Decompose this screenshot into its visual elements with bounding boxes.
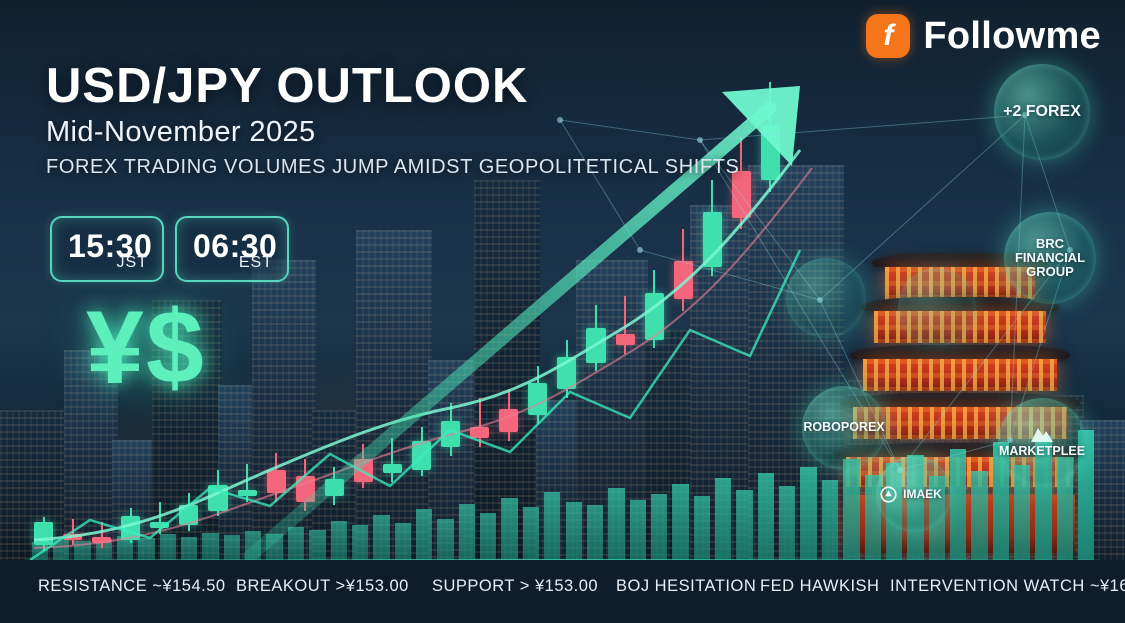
currency-symbols: ¥$	[86, 296, 206, 400]
candlestick	[674, 229, 693, 310]
candlestick	[354, 444, 373, 488]
candle-wick	[479, 398, 481, 447]
volume-bar	[331, 521, 347, 560]
candlestick	[557, 340, 576, 398]
candle-body	[325, 479, 344, 496]
candle-body	[63, 534, 82, 540]
page-subtitle: Mid-November 2025	[46, 116, 316, 149]
clock-badge-jst: 15:30 JST	[50, 216, 164, 282]
bubble-label-marketplee: MARKETPLEE	[993, 445, 1091, 459]
candlestick	[499, 389, 518, 441]
candle-body	[150, 522, 169, 528]
bubble-unlabeled-left[interactable]	[786, 258, 866, 338]
bubble-imaek[interactable]: IMAEK	[876, 456, 952, 532]
candle-body	[238, 490, 257, 496]
candlestick	[732, 137, 751, 230]
candlestick	[528, 366, 547, 424]
volume-bar	[523, 507, 539, 560]
followme-wordmark: Followme	[923, 15, 1101, 58]
tag-strip: RESISTANCE ~¥154.50BREAKOUT >¥153.00SUPP…	[0, 560, 1125, 623]
volume-bar	[715, 478, 731, 560]
volume-bar	[309, 530, 325, 560]
candlestick	[470, 398, 489, 447]
volume-bar	[630, 500, 646, 560]
candlestick	[267, 453, 286, 502]
candlestick	[703, 180, 722, 276]
candle-body	[586, 328, 605, 363]
volume-bar	[758, 473, 774, 560]
infographic-canvas: ¥$ USD/JPY OUTLOOK Mid-November 2025 FOR…	[0, 0, 1125, 623]
candle-body	[267, 470, 286, 493]
candle-body	[383, 464, 402, 473]
volume-bar	[416, 509, 432, 560]
volume-bar	[800, 467, 816, 560]
candlestick	[325, 467, 344, 505]
volume-bar	[608, 488, 624, 560]
candle-wick	[101, 522, 103, 548]
candlestick	[441, 403, 460, 455]
bubble-label-roboporex: ROBOPOREX	[797, 421, 890, 435]
volume-bar	[437, 519, 453, 560]
candlestick	[208, 470, 227, 516]
candle-body	[674, 261, 693, 299]
clock-zone-jst: JST	[117, 254, 148, 272]
followme-mark-icon: f	[866, 14, 910, 58]
candlestick	[383, 438, 402, 482]
candle-body	[34, 522, 53, 545]
candle-body	[645, 293, 664, 339]
volume-bar	[651, 494, 667, 560]
page-title: USD/JPY OUTLOOK	[46, 62, 528, 111]
volume-bar	[694, 496, 710, 560]
candle-wick	[159, 502, 161, 534]
volume-bar	[373, 515, 389, 560]
volume-bar	[779, 486, 795, 560]
candle-body	[354, 459, 373, 482]
page-kicker: FOREX TRADING VOLUMES JUMP AMIDST GEOPOL…	[46, 156, 740, 179]
clock-badge-est: 06:30 EST	[175, 216, 289, 282]
candle-body	[499, 409, 518, 432]
candle-body	[296, 476, 315, 502]
tag-item: BREAKOUT >¥153.00	[236, 577, 409, 596]
candle-wick	[72, 519, 74, 545]
candlestick	[761, 82, 780, 192]
tag-item: RESISTANCE ~¥154.50	[38, 577, 226, 596]
volume-bar	[245, 531, 261, 560]
candle-body	[761, 125, 780, 180]
tag-item: INTERVENTION WATCH ~¥160	[890, 577, 1125, 596]
volume-bar	[587, 505, 603, 560]
candle-body	[703, 212, 722, 267]
candlestick	[121, 508, 140, 543]
candlestick	[34, 517, 53, 552]
candlestick	[92, 522, 111, 548]
candlestick	[586, 305, 605, 372]
candle-body	[470, 427, 489, 439]
bubble-unlabeled-center[interactable]	[898, 268, 976, 346]
candle-body	[616, 334, 635, 346]
bubble-label-forex: +2 FOREX	[997, 103, 1087, 120]
volume-bar	[736, 490, 752, 560]
candle-wick	[624, 296, 626, 354]
candlestick	[616, 296, 635, 354]
candle-body	[208, 485, 227, 511]
candle-body	[121, 516, 140, 539]
emblem-icon	[880, 486, 897, 503]
candle-wick	[391, 438, 393, 482]
volume-bar	[352, 525, 368, 560]
brand-logo[interactable]: f Followme	[866, 14, 1101, 58]
tag-item: SUPPORT > ¥153.00	[432, 577, 598, 596]
candlestick	[645, 270, 664, 348]
volume-bar	[138, 538, 154, 560]
bubble-forex[interactable]: +2 FOREX	[994, 64, 1090, 160]
volume-bar	[288, 527, 304, 560]
volume-bar	[224, 535, 240, 560]
candle-body	[557, 357, 576, 389]
candlestick	[150, 502, 169, 534]
bubble-roboporex[interactable]: ROBOPOREX	[802, 386, 886, 470]
candle-body	[92, 537, 111, 543]
volume-bar	[672, 484, 688, 560]
bubble-marketplee[interactable]: MARKETPLEE	[998, 398, 1086, 486]
candle-body	[441, 421, 460, 447]
bubble-label-imaek: IMAEK	[897, 488, 948, 501]
volume-bar	[480, 513, 496, 560]
tag-item: BOJ HESITATION	[616, 577, 756, 596]
candlestick	[63, 519, 82, 545]
volume-bar	[843, 459, 859, 560]
bubble-brc-financial-group[interactable]: BRC FINANCIAL GROUP	[1004, 212, 1096, 304]
volume-bar	[566, 502, 582, 560]
candle-body	[179, 505, 198, 525]
volume-bar	[971, 471, 987, 560]
volume-bar	[544, 492, 560, 560]
bubble-label-brc: BRC FINANCIAL GROUP	[1004, 237, 1096, 279]
candlestick	[238, 464, 257, 502]
volume-bar	[501, 498, 517, 560]
volume-bar	[202, 533, 218, 560]
candlestick	[296, 459, 315, 511]
volume-bar	[822, 480, 838, 560]
candle-body	[412, 441, 431, 470]
mountain-icon	[1029, 425, 1055, 443]
candle-body	[528, 383, 547, 415]
volume-bar	[160, 534, 176, 560]
candlestick	[412, 427, 431, 476]
volume-bar	[459, 504, 475, 560]
candle-wick	[246, 464, 248, 502]
volume-bar	[181, 537, 197, 560]
clock-zone-est: EST	[239, 254, 273, 272]
tag-item: FED HAWKISH	[760, 577, 879, 596]
candlestick	[179, 493, 198, 531]
volume-bar	[266, 534, 282, 561]
volume-bar	[395, 523, 411, 560]
volume-bar	[950, 449, 966, 560]
